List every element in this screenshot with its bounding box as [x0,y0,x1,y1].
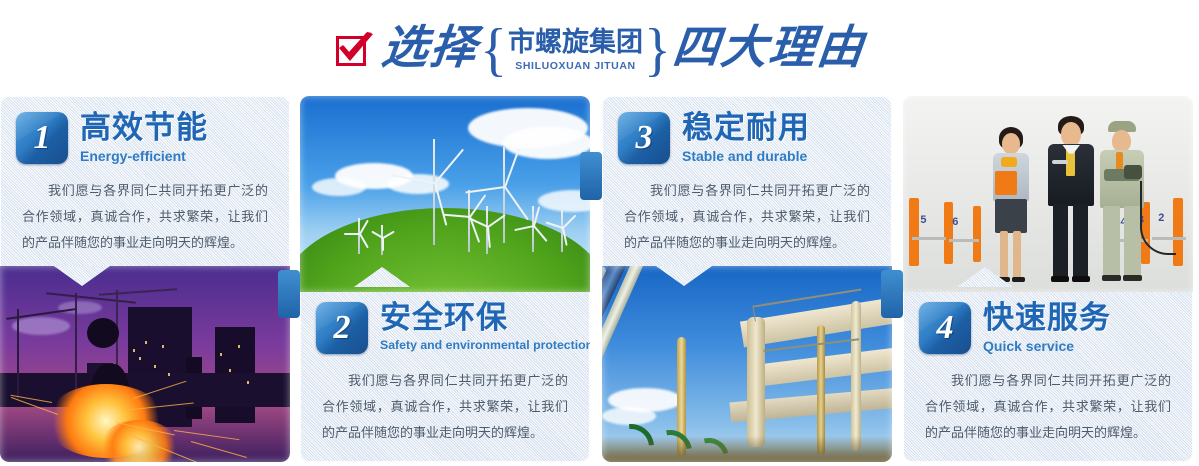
panel-4-text: 4 快速服务 Quick service 我们愿与各界同仁共同开拓更广泛的合作领… [903,286,1193,446]
panel-3-number-badge: 3 [618,112,670,164]
panel-3-title-cn: 稳定耐用 [682,112,810,145]
panel-1-title-en: Energy-efficient [80,148,208,164]
panel-2-body: 我们愿与各界同仁共同开拓更广泛的合作领域，真诚合作，共求繁荣，让我们的产品伴随您… [316,368,574,446]
panel-3-number: 3 [618,112,670,164]
brace-left: { [480,21,507,80]
brand-brace-group: { 市螺旋集团 SHILUOXUAN JITUAN } [480,22,671,78]
booth-number-6: 6 [952,216,958,228]
panel-3-title-en: Stable and durable [682,148,810,164]
reason-panel-1[interactable]: 1 高效节能 Energy-efficient 我们愿与各界同仁共同开拓更广泛的… [0,96,290,462]
panel-2-number: 2 [316,302,368,354]
reason-panel-2[interactable]: 2 安全环保 Safety and environmental protecti… [300,96,590,462]
panel-1-number: 1 [16,112,68,164]
headline: 选择 { 市螺旋集团 SHILUOXUAN JITUAN } 四大理由 [334,20,865,76]
brace-right: } [644,21,671,80]
panel-3-body: 我们愿与各界同仁共同开拓更广泛的合作领域，真诚合作，共求繁荣，让我们的产品伴随您… [618,178,876,256]
panel-2-number-badge: 2 [316,302,368,354]
panel-4-title-cn: 快速服务 [983,302,1111,335]
panel-connector-1-2 [278,270,300,318]
panel-2-text: 2 安全环保 Safety and environmental protecti… [300,286,590,446]
brand-name-pinyin: SHILUOXUAN JITUAN [515,60,635,72]
banner-header: 选择 { 市螺旋集团 SHILUOXUAN JITUAN } 四大理由 [0,0,1199,96]
welding-construction-night-photo [0,266,290,462]
panel-4-number: 4 [919,302,971,354]
headline-right-text: 四大理由 [670,25,867,71]
panel-1-title-cn: 高效节能 [80,112,208,145]
service-team-three-staff-photo: 5 6 4 3 2 [903,96,1193,292]
panel-1-body: 我们愿与各界同仁共同开拓更广泛的合作领域，真诚合作，共求繁荣，让我们的产品伴随您… [16,178,274,256]
banner-root: 选择 { 市螺旋集团 SHILUOXUAN JITUAN } 四大理由 1 高效… [0,0,1199,466]
booth-number-5: 5 [920,214,926,226]
panel-2-title-en: Safety and environmental protection [380,338,590,352]
panel-4-body: 我们愿与各界同仁共同开拓更广泛的合作领域，真诚合作，共求繁荣，让我们的产品伴随您… [919,368,1177,446]
check-box-icon [334,32,376,68]
panel-1-text: 1 高效节能 Energy-efficient 我们愿与各界同仁共同开拓更广泛的… [0,96,290,256]
reason-panel-3[interactable]: 3 稳定耐用 Stable and durable 我们愿与各界同仁共同开拓更广… [602,96,892,462]
headline-left-text: 选择 [380,25,481,71]
brand-name-cn: 市螺旋集团 [508,28,643,56]
panel-connector-2-3 [580,152,602,200]
panel-1-number-badge: 1 [16,112,68,164]
panel-4-number-badge: 4 [919,302,971,354]
industrial-pipelines-plant-photo [602,266,892,462]
panel-3-text: 3 稳定耐用 Stable and durable 我们愿与各界同仁共同开拓更广… [602,96,892,256]
reason-panel-4[interactable]: 5 6 4 3 2 [903,96,1193,462]
panel-connector-3-4 [881,270,903,318]
panel-2-title-cn: 安全环保 [380,302,590,335]
wind-turbines-green-field-photo [300,96,590,292]
panel-4-title-en: Quick service [983,338,1111,354]
